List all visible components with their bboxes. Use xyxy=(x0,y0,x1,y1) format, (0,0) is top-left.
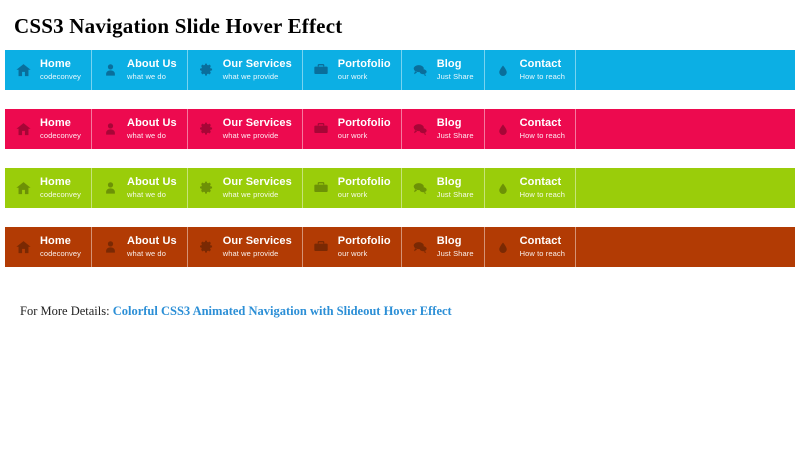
nav-item-subtitle: codeconvey xyxy=(40,191,81,199)
nav-item-our-services[interactable]: Our Services what we provide xyxy=(188,50,303,90)
nav-item-title: About Us xyxy=(127,236,177,247)
nav-item-labels: Home codeconvey xyxy=(40,118,81,140)
nav-item-portofolio[interactable]: Portofolio our work xyxy=(303,168,402,208)
droplet-icon xyxy=(493,178,513,198)
nav-item-title: Home xyxy=(40,236,81,247)
nav-item-about-us[interactable]: About Us what we do xyxy=(92,109,188,149)
nav-item-title: Blog xyxy=(437,177,474,188)
droplet-icon xyxy=(493,237,513,257)
chat-icon xyxy=(410,237,430,257)
nav-item-subtitle: How to reach xyxy=(520,191,565,199)
nav-item-labels: About Us what we do xyxy=(127,177,177,199)
nav-item-title: Portofolio xyxy=(338,59,391,70)
nav-item-portofolio[interactable]: Portofolio our work xyxy=(303,50,402,90)
nav-item-labels: Home codeconvey xyxy=(40,177,81,199)
page-title: CSS3 Navigation Slide Hover Effect xyxy=(0,0,800,39)
nav-item-subtitle: How to reach xyxy=(520,250,565,258)
nav-item-portofolio[interactable]: Portofolio our work xyxy=(303,109,402,149)
nav-item-title: Portofolio xyxy=(338,236,391,247)
nav-item-subtitle: what we provide xyxy=(223,73,292,81)
user-icon xyxy=(100,237,120,257)
more-details-link[interactable]: Colorful CSS3 Animated Navigation with S… xyxy=(113,304,452,318)
nav-item-title: Home xyxy=(40,59,81,70)
nav-item-labels: Blog Just Share xyxy=(437,177,474,199)
nav-item-labels: Portofolio our work xyxy=(338,177,391,199)
nav-item-subtitle: what we provide xyxy=(223,191,292,199)
nav-item-subtitle: our work xyxy=(338,191,391,199)
nav-item-labels: Blog Just Share xyxy=(437,118,474,140)
nav-item-title: About Us xyxy=(127,118,177,129)
nav-item-about-us[interactable]: About Us what we do xyxy=(92,50,188,90)
nav-item-subtitle: our work xyxy=(338,132,391,140)
nav-item-subtitle: what we do xyxy=(127,191,177,199)
nav-item-subtitle: what we provide xyxy=(223,250,292,258)
nav-item-labels: Contact How to reach xyxy=(520,236,565,258)
nav-item-title: Our Services xyxy=(223,118,292,129)
nav-item-labels: About Us what we do xyxy=(127,59,177,81)
footer-details: For More Details: Colorful CSS3 Animated… xyxy=(20,304,800,319)
chat-icon xyxy=(410,119,430,139)
nav-item-blog[interactable]: Blog Just Share xyxy=(402,109,485,149)
user-icon xyxy=(100,178,120,198)
chat-icon xyxy=(410,178,430,198)
nav-item-labels: Our Services what we provide xyxy=(223,118,292,140)
nav-item-about-us[interactable]: About Us what we do xyxy=(92,227,188,267)
nav-item-subtitle: codeconvey xyxy=(40,73,81,81)
nav-item-contact[interactable]: Contact How to reach xyxy=(485,227,576,267)
briefcase-icon xyxy=(311,178,331,198)
nav-item-blog[interactable]: Blog Just Share xyxy=(402,50,485,90)
nav-item-subtitle: codeconvey xyxy=(40,250,81,258)
nav-item-labels: Blog Just Share xyxy=(437,59,474,81)
nav-item-subtitle: what we do xyxy=(127,132,177,140)
nav-item-home[interactable]: Home codeconvey xyxy=(5,227,92,267)
navbar-pink: Home codeconvey About Us what we do Our … xyxy=(5,109,795,149)
nav-item-blog[interactable]: Blog Just Share xyxy=(402,227,485,267)
nav-item-our-services[interactable]: Our Services what we provide xyxy=(188,109,303,149)
user-icon xyxy=(100,60,120,80)
home-icon xyxy=(13,237,33,257)
briefcase-icon xyxy=(311,119,331,139)
briefcase-icon xyxy=(311,60,331,80)
briefcase-icon xyxy=(311,237,331,257)
gear-icon xyxy=(196,60,216,80)
nav-item-title: About Us xyxy=(127,177,177,188)
user-icon xyxy=(100,119,120,139)
nav-item-title: About Us xyxy=(127,59,177,70)
nav-item-portofolio[interactable]: Portofolio our work xyxy=(303,227,402,267)
droplet-icon xyxy=(493,60,513,80)
nav-item-title: Our Services xyxy=(223,177,292,188)
navbar-green: Home codeconvey About Us what we do Our … xyxy=(5,168,795,208)
nav-item-title: Portofolio xyxy=(338,118,391,129)
nav-item-title: Contact xyxy=(520,236,565,247)
nav-item-title: Home xyxy=(40,118,81,129)
nav-item-title: Our Services xyxy=(223,236,292,247)
nav-item-labels: Our Services what we provide xyxy=(223,177,292,199)
nav-item-home[interactable]: Home codeconvey xyxy=(5,50,92,90)
nav-item-subtitle: Just Share xyxy=(437,250,474,258)
gear-icon xyxy=(196,178,216,198)
nav-item-labels: Home codeconvey xyxy=(40,59,81,81)
nav-item-subtitle: our work xyxy=(338,250,391,258)
nav-item-title: Home xyxy=(40,177,81,188)
nav-item-our-services[interactable]: Our Services what we provide xyxy=(188,168,303,208)
nav-item-subtitle: Just Share xyxy=(437,191,474,199)
nav-item-title: Contact xyxy=(520,118,565,129)
nav-item-labels: Portofolio our work xyxy=(338,59,391,81)
navbar-orange: Home codeconvey About Us what we do Our … xyxy=(5,227,795,267)
nav-item-subtitle: Just Share xyxy=(437,73,474,81)
nav-item-title: Contact xyxy=(520,177,565,188)
nav-item-home[interactable]: Home codeconvey xyxy=(5,109,92,149)
nav-item-labels: Our Services what we provide xyxy=(223,59,292,81)
nav-item-labels: Contact How to reach xyxy=(520,177,565,199)
nav-item-title: Blog xyxy=(437,236,474,247)
nav-item-subtitle: what we provide xyxy=(223,132,292,140)
gear-icon xyxy=(196,237,216,257)
nav-item-labels: Contact How to reach xyxy=(520,59,565,81)
nav-item-subtitle: our work xyxy=(338,73,391,81)
nav-item-blog[interactable]: Blog Just Share xyxy=(402,168,485,208)
nav-item-labels: Contact How to reach xyxy=(520,118,565,140)
navbar-list: Home codeconvey About Us what we do Our … xyxy=(0,50,800,267)
nav-item-labels: Portofolio our work xyxy=(338,236,391,258)
nav-item-subtitle: what we do xyxy=(127,250,177,258)
gear-icon xyxy=(196,119,216,139)
nav-item-labels: Portofolio our work xyxy=(338,118,391,140)
nav-item-subtitle: Just Share xyxy=(437,132,474,140)
nav-item-labels: Home codeconvey xyxy=(40,236,81,258)
home-icon xyxy=(13,178,33,198)
nav-item-title: Our Services xyxy=(223,59,292,70)
nav-item-contact[interactable]: Contact How to reach xyxy=(485,109,576,149)
nav-item-subtitle: what we do xyxy=(127,73,177,81)
nav-item-title: Contact xyxy=(520,59,565,70)
nav-item-title: Blog xyxy=(437,59,474,70)
nav-item-contact[interactable]: Contact How to reach xyxy=(485,50,576,90)
droplet-icon xyxy=(493,119,513,139)
nav-item-contact[interactable]: Contact How to reach xyxy=(485,168,576,208)
nav-item-labels: About Us what we do xyxy=(127,118,177,140)
nav-item-about-us[interactable]: About Us what we do xyxy=(92,168,188,208)
home-icon xyxy=(13,60,33,80)
navbar-blue: Home codeconvey About Us what we do Our … xyxy=(5,50,795,90)
footer-prefix: For More Details: xyxy=(20,304,110,318)
nav-item-labels: Our Services what we provide xyxy=(223,236,292,258)
nav-item-labels: Blog Just Share xyxy=(437,236,474,258)
nav-item-title: Portofolio xyxy=(338,177,391,188)
chat-icon xyxy=(410,60,430,80)
nav-item-labels: About Us what we do xyxy=(127,236,177,258)
nav-item-subtitle: How to reach xyxy=(520,73,565,81)
home-icon xyxy=(13,119,33,139)
nav-item-subtitle: codeconvey xyxy=(40,132,81,140)
nav-item-our-services[interactable]: Our Services what we provide xyxy=(188,227,303,267)
nav-item-home[interactable]: Home codeconvey xyxy=(5,168,92,208)
nav-item-title: Blog xyxy=(437,118,474,129)
nav-item-subtitle: How to reach xyxy=(520,132,565,140)
